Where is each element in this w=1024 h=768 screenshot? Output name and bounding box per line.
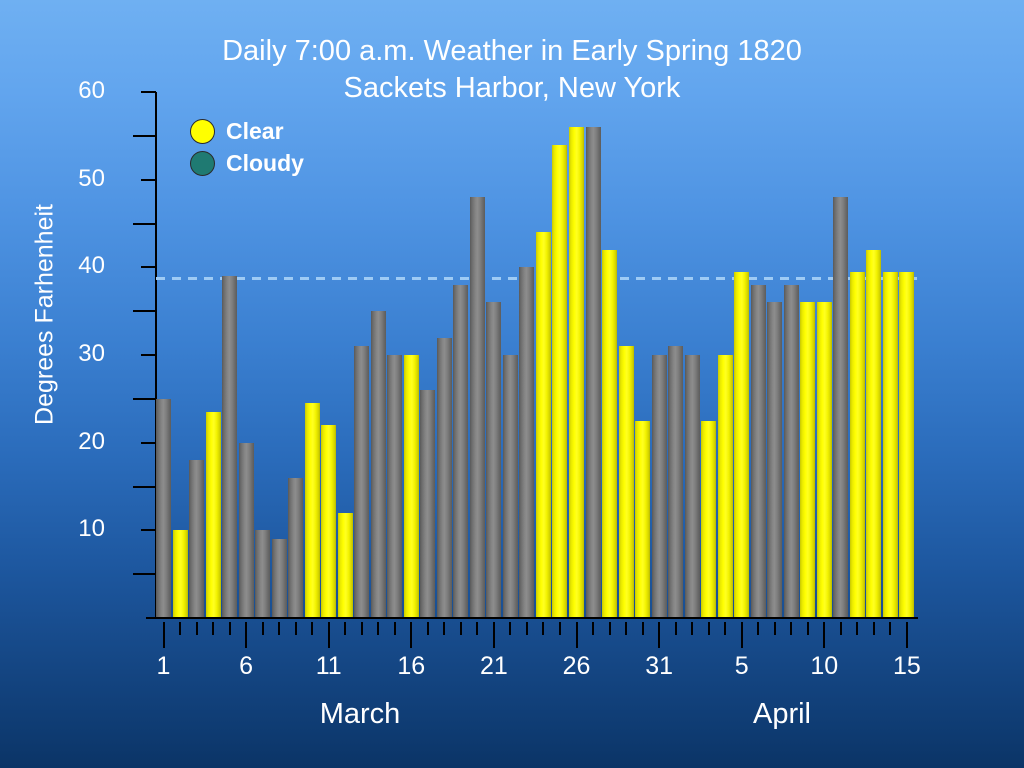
- x-tick-day-45: [889, 622, 891, 635]
- y-label-50: 50: [59, 167, 105, 191]
- y-label-30: 30: [59, 342, 105, 366]
- bar-mar-12: [338, 513, 353, 618]
- bar-apr-15: [899, 272, 914, 618]
- x-tick-day-35: [724, 622, 726, 635]
- bar-apr-8: [784, 285, 799, 618]
- circle-icon: [190, 151, 215, 176]
- bar-mar-23: [519, 267, 534, 618]
- bar-mar-27: [586, 127, 601, 618]
- x-tick-day-5: [229, 622, 231, 635]
- x-tick-day-15: [394, 622, 396, 635]
- bar-apr-5: [734, 272, 749, 618]
- x-label-16: 16: [389, 652, 433, 680]
- y-label-60: 60: [59, 79, 105, 103]
- x-label-15: 15: [885, 652, 929, 680]
- y-tick-major-40: [141, 266, 156, 268]
- bar-mar-5: [222, 276, 237, 618]
- y-axis-title: Degrees Farhenheit: [31, 195, 60, 435]
- bar-mar-19: [453, 285, 468, 618]
- bar-mar-1: [156, 399, 171, 618]
- bar-apr-12: [850, 272, 865, 618]
- bar-apr-11: [833, 197, 848, 618]
- x-tick-day-11: [328, 622, 330, 648]
- bar-apr-1: [668, 346, 683, 618]
- circle-icon: [190, 119, 215, 144]
- x-tick-day-29: [625, 622, 627, 635]
- bar-mar-4: [206, 412, 221, 618]
- x-tick-day-32: [675, 622, 677, 635]
- x-label-10: 10: [802, 652, 846, 680]
- bar-apr-6: [751, 285, 766, 618]
- x-tick-day-17: [427, 622, 429, 635]
- x-tick-day-7: [262, 622, 264, 635]
- bar-mar-18: [437, 338, 452, 619]
- x-tick-day-46: [906, 622, 908, 648]
- y-tick-minor-55: [133, 135, 156, 137]
- bar-mar-2: [173, 530, 188, 618]
- bar-mar-26: [569, 127, 584, 618]
- bar-mar-16: [404, 355, 419, 618]
- y-tick-minor-5: [133, 573, 156, 575]
- bar-mar-10: [305, 403, 320, 618]
- bar-apr-4: [718, 355, 733, 618]
- x-tick-day-1: [163, 622, 165, 648]
- y-label-40: 40: [59, 254, 105, 278]
- x-tick-day-34: [708, 622, 710, 635]
- x-tick-day-13: [361, 622, 363, 635]
- y-label-10: 10: [59, 517, 105, 541]
- bar-mar-6: [239, 443, 254, 618]
- bar-mar-30: [635, 421, 650, 618]
- x-tick-day-23: [526, 622, 528, 635]
- bar-mar-17: [420, 390, 435, 618]
- x-label-26: 26: [555, 652, 599, 680]
- x-tick-day-41: [823, 622, 825, 648]
- x-label-1: 1: [142, 652, 186, 680]
- x-label-21: 21: [472, 652, 516, 680]
- y-tick-minor-15: [133, 486, 156, 488]
- bar-apr-3: [701, 421, 716, 618]
- x-tick-day-10: [311, 622, 313, 635]
- x-tick-day-39: [790, 622, 792, 635]
- bar-apr-2: [685, 355, 700, 618]
- chart-canvas: Daily 7:00 a.m. Weather in Early Spring …: [0, 0, 1024, 768]
- y-label-20: 20: [59, 430, 105, 454]
- bar-mar-14: [371, 311, 386, 618]
- bar-apr-13: [866, 250, 881, 618]
- x-tick-day-3: [196, 622, 198, 635]
- x-tick-day-43: [856, 622, 858, 635]
- x-tick-day-38: [774, 622, 776, 635]
- x-tick-day-16: [410, 622, 412, 648]
- x-tick-day-30: [642, 622, 644, 635]
- x-tick-day-33: [691, 622, 693, 635]
- y-tick-minor-35: [133, 310, 156, 312]
- month-label-march: March: [290, 697, 430, 731]
- x-label-11: 11: [307, 652, 351, 680]
- x-tick-day-37: [757, 622, 759, 635]
- y-tick-minor-25: [133, 398, 156, 400]
- y-tick-major-30: [141, 354, 156, 356]
- bar-mar-31: [652, 355, 667, 618]
- bar-mar-3: [189, 460, 204, 618]
- y-tick-major-20: [141, 442, 156, 444]
- bar-apr-14: [883, 272, 898, 618]
- x-tick-day-25: [559, 622, 561, 635]
- chart-title-line-1: Daily 7:00 a.m. Weather in Early Spring …: [0, 34, 1024, 69]
- x-tick-day-18: [443, 622, 445, 635]
- bar-mar-28: [602, 250, 617, 618]
- x-tick-day-21: [493, 622, 495, 648]
- bar-mar-21: [486, 302, 501, 618]
- x-tick-day-12: [344, 622, 346, 635]
- bar-mar-13: [354, 346, 369, 618]
- y-tick-major-60: [141, 91, 156, 93]
- bar-mar-29: [619, 346, 634, 618]
- x-tick-day-40: [807, 622, 809, 635]
- x-tick-day-19: [460, 622, 462, 635]
- x-axis-line: [146, 617, 918, 619]
- bar-mar-22: [503, 355, 518, 618]
- bar-apr-9: [800, 302, 815, 618]
- x-tick-day-8: [278, 622, 280, 635]
- x-tick-day-42: [840, 622, 842, 635]
- bar-mar-11: [321, 425, 336, 618]
- x-label-31: 31: [637, 652, 681, 680]
- x-tick-day-14: [377, 622, 379, 635]
- x-tick-day-31: [658, 622, 660, 648]
- bar-mar-9: [288, 478, 303, 618]
- x-tick-day-27: [592, 622, 594, 635]
- bar-apr-7: [767, 302, 782, 618]
- bar-mar-15: [387, 355, 402, 618]
- x-tick-day-6: [245, 622, 247, 648]
- x-tick-day-44: [873, 622, 875, 635]
- x-tick-day-24: [542, 622, 544, 635]
- y-tick-major-50: [141, 179, 156, 181]
- x-tick-day-9: [295, 622, 297, 635]
- y-tick-major-10: [141, 529, 156, 531]
- x-tick-day-22: [509, 622, 511, 635]
- bar-mar-24: [536, 232, 551, 618]
- x-label-6: 6: [224, 652, 268, 680]
- x-tick-day-4: [212, 622, 214, 635]
- bar-mar-7: [255, 530, 270, 618]
- month-label-april: April: [718, 697, 846, 731]
- bar-apr-10: [817, 302, 832, 618]
- x-tick-day-26: [576, 622, 578, 648]
- legend-label-cloudy: Cloudy: [226, 148, 304, 179]
- x-tick-day-28: [609, 622, 611, 635]
- bar-mar-8: [272, 539, 287, 618]
- bar-mar-25: [552, 145, 567, 618]
- y-tick-minor-45: [133, 223, 156, 225]
- x-tick-day-20: [476, 622, 478, 635]
- x-tick-day-2: [179, 622, 181, 635]
- x-tick-day-36: [741, 622, 743, 648]
- x-label-5: 5: [720, 652, 764, 680]
- legend-label-clear: Clear: [226, 116, 284, 147]
- bar-mar-20: [470, 197, 485, 618]
